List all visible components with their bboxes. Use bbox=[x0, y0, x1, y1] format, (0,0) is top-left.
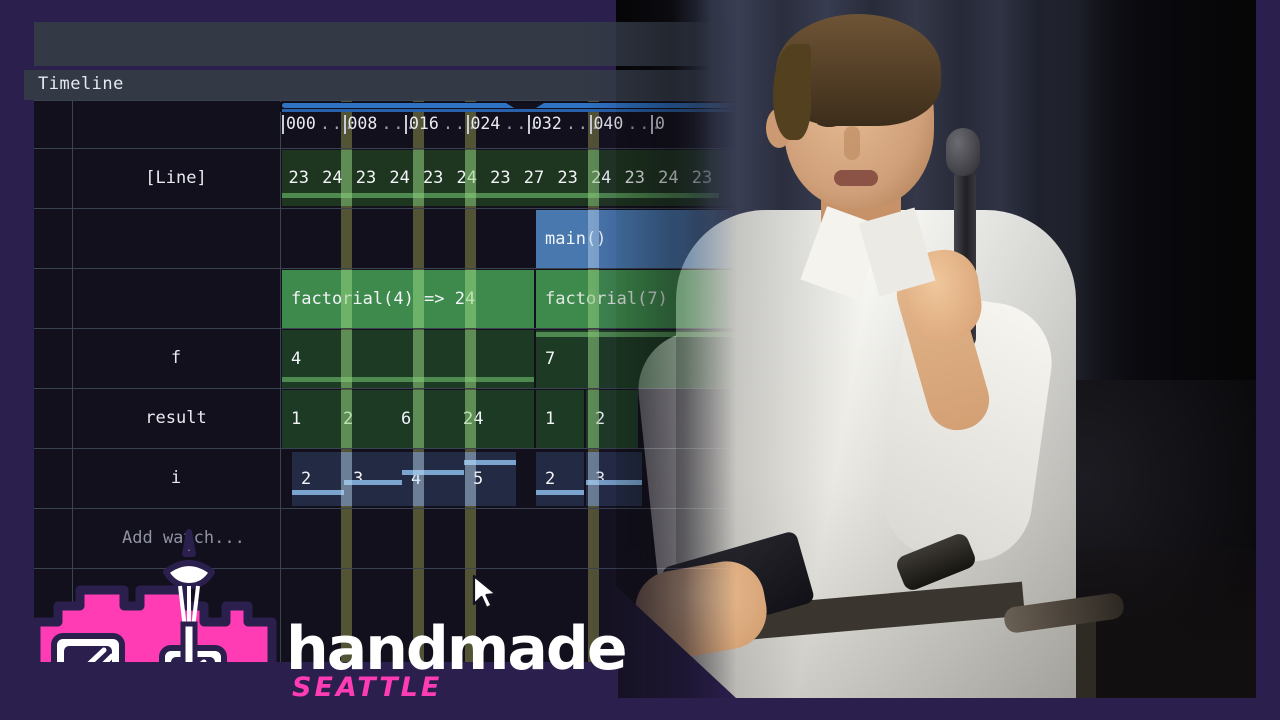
line-cell[interactable]: 24 bbox=[652, 150, 686, 206]
line-cell[interactable]: 23 bbox=[618, 150, 652, 206]
panel-title-bar: Timeline bbox=[24, 70, 736, 100]
cell-value: 1 bbox=[545, 409, 555, 429]
line-cell[interactable]: 23 bbox=[416, 150, 450, 206]
watch-f-bar bbox=[282, 377, 534, 382]
watch-f-bar bbox=[536, 332, 734, 337]
cell-value: 23 bbox=[423, 168, 443, 188]
watch-i-value-bar bbox=[536, 490, 584, 495]
cell-value: 7 bbox=[545, 349, 555, 369]
watch-i-cell[interactable]: 3 bbox=[344, 452, 402, 506]
watch-i-cell[interactable]: 3 bbox=[586, 452, 642, 506]
line-cell-underline bbox=[349, 193, 383, 198]
cell-highlight-stripe bbox=[588, 210, 599, 268]
line-cell[interactable]: 24 bbox=[316, 150, 350, 206]
cell-highlight-stripe bbox=[341, 150, 349, 206]
cell-highlight-stripe bbox=[416, 150, 424, 206]
cell-highlight-stripe bbox=[465, 150, 476, 206]
line-cell[interactable]: 23 bbox=[484, 150, 518, 206]
cell-highlight-stripe bbox=[465, 330, 476, 388]
line-cell-underline bbox=[517, 193, 551, 198]
cell-highlight-stripe bbox=[588, 330, 599, 388]
cell-value: 27 bbox=[524, 168, 544, 188]
watch-label-f[interactable]: f bbox=[72, 328, 280, 388]
line-cell[interactable]: 24 bbox=[383, 150, 417, 206]
cell-highlight-stripe bbox=[341, 330, 352, 388]
watch-result-cell[interactable]: 6 bbox=[392, 390, 454, 448]
cell-value: 6 bbox=[401, 409, 411, 429]
watch-label-i[interactable]: i bbox=[72, 448, 280, 508]
watch-label-result[interactable]: result bbox=[72, 388, 280, 448]
cell-highlight-stripe bbox=[349, 150, 352, 206]
cell-value: 24 bbox=[389, 168, 409, 188]
cell-value: 23 bbox=[289, 168, 309, 188]
callstack-frame-main[interactable]: main() bbox=[536, 210, 734, 268]
watch-result-cell[interactable]: 2 bbox=[586, 390, 638, 448]
speaker-mouth bbox=[834, 170, 878, 186]
cell-highlight-stripe bbox=[413, 270, 424, 328]
cell-highlight-stripe bbox=[341, 270, 352, 328]
speaker-nose bbox=[844, 126, 860, 160]
cell-value: 24 bbox=[322, 168, 342, 188]
cell-value: 23 bbox=[625, 168, 645, 188]
page-title: Timeline bbox=[38, 74, 124, 94]
line-cell-underline bbox=[685, 193, 719, 198]
line-cell[interactable]: 23 bbox=[685, 150, 719, 206]
speaker-hair-side bbox=[773, 44, 811, 140]
watch-label-line[interactable]: [Line] bbox=[72, 148, 280, 208]
line-cell[interactable]: 24 bbox=[450, 150, 484, 206]
watch-f-segment[interactable]: 7 bbox=[536, 330, 734, 388]
cell-highlight-stripe bbox=[588, 270, 599, 328]
cell-highlight-stripe bbox=[413, 390, 424, 448]
line-cell-underline bbox=[618, 193, 652, 198]
line-cell-underline bbox=[484, 193, 518, 198]
cell-highlight-stripe bbox=[344, 452, 352, 506]
watch-result-cell[interactable]: 1 bbox=[536, 390, 584, 448]
watch-i-cell[interactable]: 5 bbox=[464, 452, 516, 506]
watch-f-segment[interactable]: 4 bbox=[282, 330, 534, 388]
handmade-seattle-logo: handmade SEATTLE bbox=[28, 520, 618, 710]
line-cell[interactable]: 23 bbox=[349, 150, 383, 206]
cell-value: 1 bbox=[291, 409, 301, 429]
watch-result-cell[interactable]: 1 bbox=[282, 390, 334, 448]
line-cell[interactable]: 23 bbox=[551, 150, 585, 206]
watch-i-value-bar bbox=[402, 470, 464, 475]
cell-value: 23 bbox=[557, 168, 577, 188]
cell-highlight-stripe bbox=[341, 390, 352, 448]
cell-value: factorial(4) => 24 bbox=[291, 289, 475, 309]
cell-value: 2 bbox=[545, 469, 555, 489]
line-cell-underline bbox=[282, 193, 316, 198]
cell-value: 2 bbox=[301, 469, 311, 489]
cell-highlight-stripe bbox=[588, 390, 599, 448]
line-cell[interactable]: 23 bbox=[282, 150, 316, 206]
cell-highlight-stripe bbox=[588, 452, 599, 506]
watch-i-cell[interactable]: 2 bbox=[536, 452, 584, 506]
watch-i-cell[interactable]: 4 bbox=[402, 452, 464, 506]
cell-highlight-stripe bbox=[413, 330, 424, 388]
cell-value: 23 bbox=[490, 168, 510, 188]
line-cell[interactable]: 27 bbox=[517, 150, 551, 206]
line-cell-underline bbox=[383, 193, 417, 198]
cell-highlight-stripe bbox=[465, 390, 476, 448]
cell-value: 3 bbox=[353, 469, 363, 489]
callstack-frame-factorial-7[interactable]: factorial(7) bbox=[536, 270, 734, 328]
watch-result-cell[interactable]: 2 bbox=[334, 390, 392, 448]
line-cell-underline bbox=[652, 193, 686, 198]
callstack-frame-factorial-4[interactable]: factorial(4) => 24 bbox=[282, 270, 534, 328]
screen-capture-stage: Timeline 000...008...016...024...032...0… bbox=[0, 0, 1280, 720]
watch-i-value-bar bbox=[292, 490, 344, 495]
line-cell[interactable]: 24 bbox=[584, 150, 618, 206]
line-cell-underline bbox=[551, 193, 585, 198]
watch-i-value-bar bbox=[344, 480, 402, 485]
watch-i-cell[interactable]: 2 bbox=[292, 452, 344, 506]
mouse-cursor-icon bbox=[472, 574, 498, 612]
watch-result-cell[interactable]: 24 bbox=[454, 390, 534, 448]
cell-highlight-stripe bbox=[465, 270, 476, 328]
logo-subtitle: SEATTLE bbox=[292, 672, 442, 703]
toolbar[interactable] bbox=[34, 22, 736, 66]
cell-highlight-stripe bbox=[465, 452, 476, 506]
cell-value: 24 bbox=[658, 168, 678, 188]
cell-value: factorial(7) bbox=[545, 289, 668, 309]
cell-highlight-stripe bbox=[588, 150, 599, 206]
microphone-head bbox=[946, 128, 980, 176]
cell-value: 23 bbox=[356, 168, 376, 188]
cell-value: 23 bbox=[692, 168, 712, 188]
cell-value: 4 bbox=[291, 349, 301, 369]
cell-highlight-stripe bbox=[413, 452, 424, 506]
